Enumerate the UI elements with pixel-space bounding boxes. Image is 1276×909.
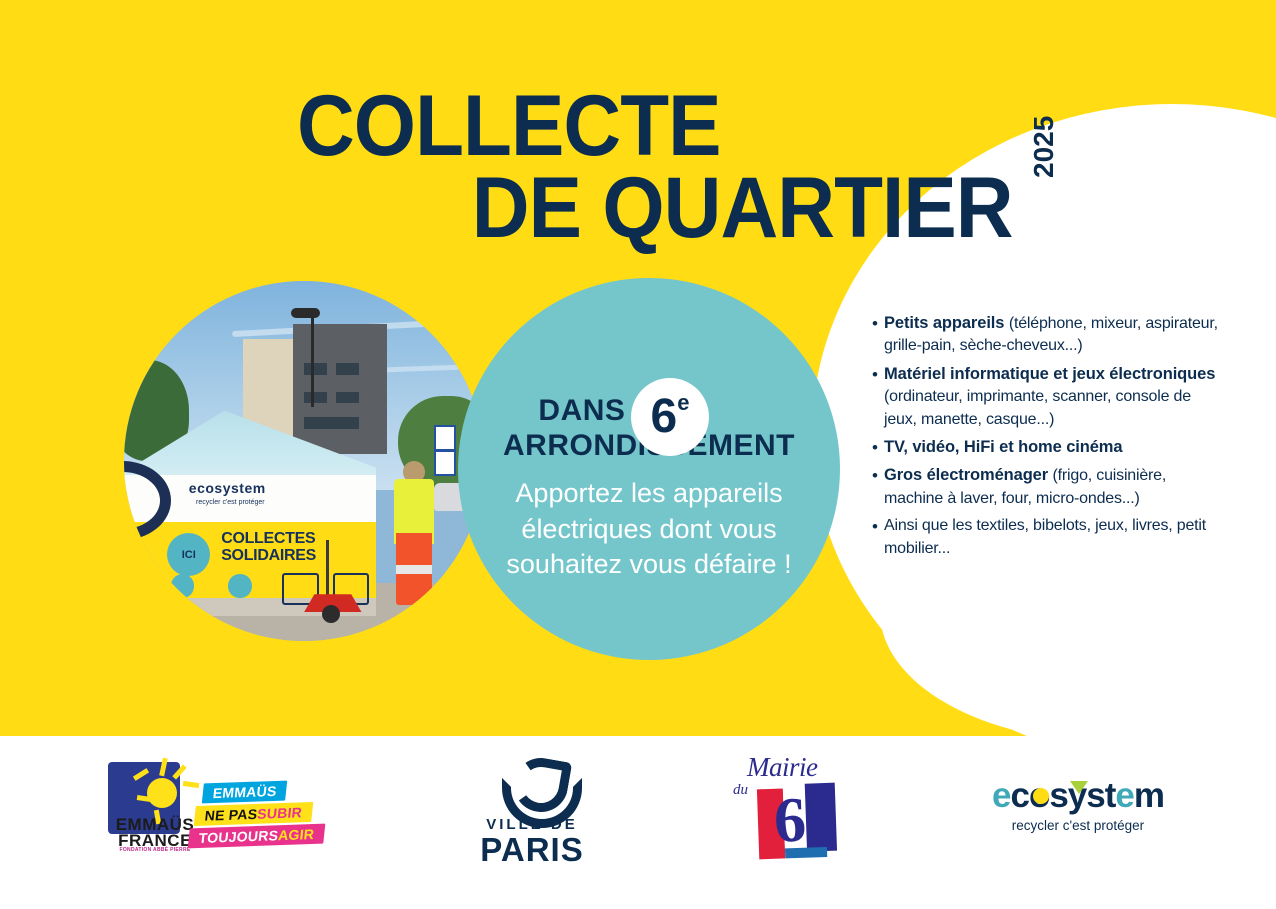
paris-boat-icon — [472, 756, 592, 814]
ecosystem-letter-y-wrap: y — [1068, 778, 1086, 813]
ecosystem-letter-o-wrap: o — [1029, 778, 1049, 813]
title-line-2: DE QUARTIER — [71, 168, 1020, 250]
hairdryer-icon — [228, 574, 251, 597]
emmaus-france-logo: EMMAÜS FRANCE FONDATION ABBÉ PIERRE EMMA… — [103, 758, 338, 858]
emmaus-band-2-text-a: NE PAS — [204, 806, 258, 824]
list-item-content: Ainsi que les textiles, bibelots, jeux, … — [884, 515, 1222, 560]
photo-banner-headline: COLLECTES SOLIDAIRES — [221, 531, 316, 565]
photo-streetlamp-head — [291, 308, 320, 318]
emmaus-band-3-text-b: AGIR — [277, 826, 315, 843]
list-item-content: Matériel informatique et jeux électroniq… — [884, 363, 1222, 431]
mairie-number-suffix: e — [813, 797, 821, 815]
emmaus-band-1: EMMAÜS — [202, 781, 288, 804]
photo-road-sign — [434, 450, 456, 476]
badge-suffix: e — [677, 390, 689, 416]
photo-window — [336, 392, 358, 404]
photo-banner-headline-2: SOLIDAIRES — [221, 548, 316, 565]
mairie-du-6e-logo: Mairie du 6 e — [733, 752, 843, 862]
bullet-dot-icon: • — [872, 436, 884, 459]
ville-de-paris-logo: VILLE DE PARIS — [472, 756, 592, 861]
list-item-head: Gros électroménager — [884, 466, 1048, 484]
list-item-content: Petits appareils (téléphone, mixeur, asp… — [884, 312, 1222, 358]
emmaus-band-2-text-b: SUBIR — [256, 804, 302, 822]
list-item-head: Petits appareils — [884, 314, 1004, 332]
list-item-head: Matériel informatique et jeux électroniq… — [884, 365, 1215, 383]
partner-logos: EMMAÜS FRANCE FONDATION ABBÉ PIERRE EMMA… — [0, 736, 1276, 909]
emmaus-band-3-text-a: TOUJOURS — [198, 827, 279, 846]
list-item-sub: Ainsi que les textiles, bibelots, jeux, … — [884, 517, 1206, 556]
ecosystem-logo: ecosystem recycler c'est protéger — [978, 778, 1178, 833]
photo-window — [304, 392, 326, 404]
mairie-number: 6 — [773, 788, 807, 853]
list-item: • Matériel informatique et jeux électron… — [872, 363, 1222, 431]
mairie-flag-tile: 6 e — [757, 783, 838, 860]
accepted-items-list: • Petits appareils (téléphone, mixeur, a… — [872, 312, 1222, 565]
bullet-dot-icon: • — [872, 515, 884, 560]
collection-photo: ecosystem recycler c'est protéger ICI CO… — [124, 281, 484, 641]
ecosystem-letter-e: e — [992, 776, 1010, 815]
ecosystem-letter-s: s — [1049, 776, 1067, 815]
page-title: COLLECTE DE QUARTIER — [0, 86, 1020, 249]
photo-window — [304, 417, 358, 429]
photo-road-sign — [434, 425, 456, 451]
photo-window — [336, 363, 358, 375]
emmaus-band-2: NE PAS SUBIR — [194, 802, 313, 826]
ecosystem-letters-st: st — [1086, 776, 1115, 815]
emmaus-sun-ray — [183, 781, 200, 788]
emmaus-sun-icon — [147, 778, 177, 808]
ecosystem-letter-m: m — [1134, 776, 1164, 815]
mairie-word: Mairie — [747, 752, 818, 783]
ecosystem-wordmark: ecosystem — [978, 778, 1178, 813]
poster-canvas: COLLECTE DE QUARTIER 2025 ecosystem recy… — [0, 0, 1276, 909]
ecosystem-letter-c: c — [1010, 776, 1028, 815]
photo-banner-tagline: recycler c'est protéger — [196, 499, 265, 506]
photo-worker-reflective-band — [396, 565, 432, 574]
photo-building-grey — [293, 324, 387, 454]
list-item-sub: (ordinateur, imprimante, scanner, consol… — [884, 388, 1191, 427]
list-item-content: TV, vidéo, HiFi et home cinéma — [884, 436, 1222, 459]
list-item-head: TV, vidéo, HiFi et home cinéma — [884, 438, 1122, 456]
bullet-dot-icon: • — [872, 312, 884, 358]
title-line-1: COLLECTE — [71, 86, 1020, 168]
list-item: • Petits appareils (téléphone, mixeur, a… — [872, 312, 1222, 358]
emmaus-band-3: TOUJOURS AGIR — [188, 824, 326, 849]
mairie-du-word: du — [733, 782, 748, 799]
teal-body-text: Apportez les appareils électriques dont … — [468, 476, 830, 583]
ecosystem-tagline: recycler c'est protéger — [978, 818, 1178, 833]
ecosystem-letter-e2: e — [1115, 776, 1133, 815]
list-item: • TV, vidéo, HiFi et home cinéma — [872, 436, 1222, 459]
bullet-dot-icon: • — [872, 464, 884, 510]
photo-window — [304, 363, 326, 375]
list-item: • Gros électroménager (frigo, cuisinière… — [872, 464, 1222, 510]
ecosystem-yellow-dot — [1033, 788, 1049, 804]
plug-icon — [171, 574, 194, 597]
ecosystem-green-triangle — [1070, 781, 1088, 794]
title-year: 2025 — [1028, 116, 1060, 178]
emmaus-subtitle: FONDATION ABBÉ PIERRE — [103, 848, 207, 853]
photo-pallet-jack-handle — [326, 540, 329, 601]
mairie-tile-blue — [805, 783, 837, 852]
emmaus-band-1-text: EMMAÜS — [212, 783, 277, 801]
photo-pallet-jack-wheel — [322, 605, 340, 623]
bullet-dot-icon: • — [872, 363, 884, 431]
photo-banner-brand: ecosystem — [189, 480, 266, 496]
teal-info-circle — [458, 278, 840, 660]
arrondissement-badge: 6 e — [631, 378, 709, 456]
badge-number: 6 — [651, 393, 678, 441]
list-item-content: Gros électroménager (frigo, cuisinière, … — [884, 464, 1222, 510]
list-item: • Ainsi que les textiles, bibelots, jeux… — [872, 515, 1222, 560]
photo-banner-headline-1: COLLECTES — [221, 531, 316, 548]
paris-line-2: PARIS — [472, 833, 592, 868]
photo-streetlamp-pole — [311, 310, 314, 407]
